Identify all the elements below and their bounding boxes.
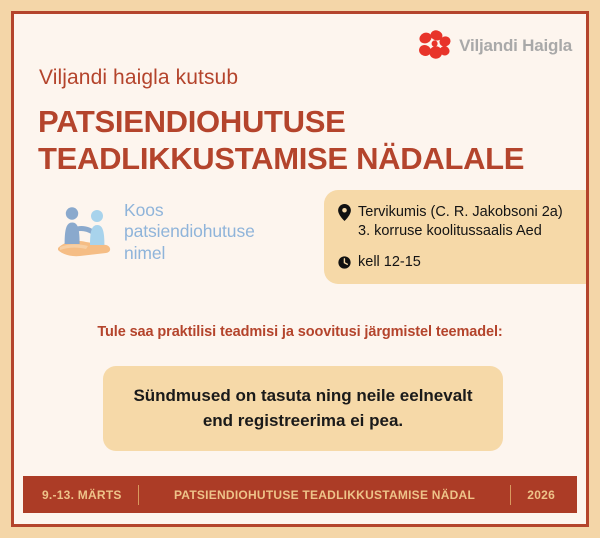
kicker-text: Viljandi haigla kutsub xyxy=(39,66,238,90)
flower-petals-icon xyxy=(418,30,452,61)
map-pin-icon xyxy=(338,204,351,221)
notice-line-1: Sündmused on tasuta ning neile eelnevalt xyxy=(123,384,483,409)
notice-line-2: end registreerima ei pea. xyxy=(123,409,483,434)
footer-bar: 9.-13. MÄRTS PATSIENDIOHUTUSE TEADLIKKUS… xyxy=(23,476,577,513)
topics-lead-in: Tule saa praktilisi teadmisi ja soovitus… xyxy=(14,324,586,340)
headline-line-2: TEADLIKKUSTAMISE NÄDALALE xyxy=(38,141,578,178)
location-line-1: Tervikumis (C. R. Jakobsoni 2a) xyxy=(358,203,563,222)
campaign-name-line-1: Koos xyxy=(124,200,255,221)
footer-year: 2026 xyxy=(527,488,577,502)
clock-icon xyxy=(338,254,351,271)
page-title: PATSIENDIOHUTUSE TEADLIKKUSTAMISE NÄDALA… xyxy=(38,104,578,177)
footer-divider-left xyxy=(138,485,139,505)
time-row: kell 12-15 xyxy=(338,253,580,272)
time-text: kell 12-15 xyxy=(358,253,421,272)
poster-canvas: Viljandi Haigla Viljandi haigla kutsub P… xyxy=(11,11,589,527)
headline-line-1: PATSIENDIOHUTUSE xyxy=(38,104,346,139)
time-value: kell 12-15 xyxy=(358,253,421,272)
location-text: Tervikumis (C. R. Jakobsoni 2a) 3. korru… xyxy=(358,203,563,242)
event-info-card: Tervikumis (C. R. Jakobsoni 2a) 3. korru… xyxy=(324,190,589,284)
details-band: Koos patsiendiohutuse nimel Tervikumis (… xyxy=(14,186,586,291)
campaign-name: Koos patsiendiohutuse nimel xyxy=(124,200,255,264)
footer-dates: 9.-13. MÄRTS xyxy=(23,488,122,502)
footer-title: PATSIENDIOHUTUSE TEADLIKKUSTAMISE NÄDAL xyxy=(155,488,495,502)
footer-divider-right xyxy=(510,485,511,505)
hospital-name: Viljandi Haigla xyxy=(459,36,572,56)
campaign-name-line-3: nimel xyxy=(124,243,255,264)
campaign-name-line-2: patsiendiohutuse xyxy=(124,221,255,242)
two-people-in-hand-icon xyxy=(56,204,118,260)
location-row: Tervikumis (C. R. Jakobsoni 2a) 3. korru… xyxy=(338,203,580,242)
hospital-logo: Viljandi Haigla xyxy=(418,30,572,61)
location-line-2: 3. korruse koolitussaalis Aed xyxy=(358,222,563,241)
campaign-logo: Koos patsiendiohutuse nimel xyxy=(56,200,255,264)
free-entry-notice: Sündmused on tasuta ning neile eelnevalt… xyxy=(103,366,503,451)
